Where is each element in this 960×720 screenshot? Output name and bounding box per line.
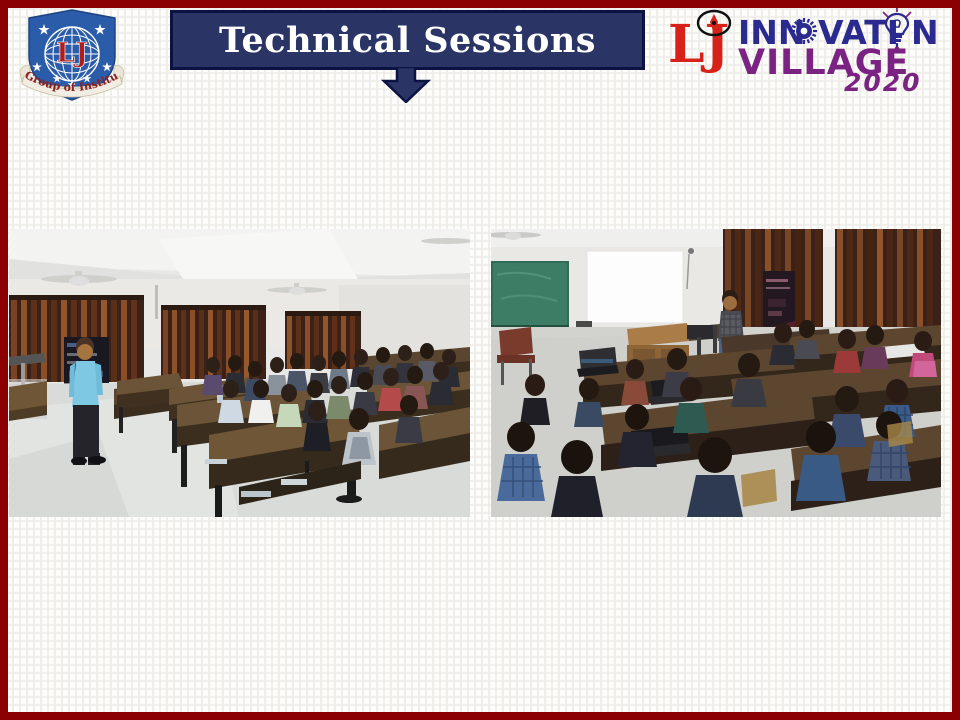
event-year: 2020 (844, 68, 922, 92)
photo-technical-session-classroom (491, 229, 941, 517)
lj-monogram: LJ (56, 38, 88, 69)
title-banner: Technical Sessions (170, 10, 645, 70)
slide-technical-sessions: LJ LJ Group of Institutes Technical Sess… (0, 0, 960, 720)
frame-border-left (0, 0, 8, 720)
frame-border-right (952, 0, 960, 720)
down-arrow-icon (378, 67, 434, 103)
sun-icon (791, 18, 817, 44)
innovation-village-logo: LJ INN VATI (666, 4, 948, 92)
page-title: Technical Sessions (219, 23, 596, 58)
photo-technical-session-lecture-hall (9, 229, 470, 517)
lj-group-logo: LJ LJ Group of Institutes (12, 4, 132, 106)
innovation-text-end: N (911, 13, 939, 52)
frame-border-bottom (0, 712, 960, 720)
